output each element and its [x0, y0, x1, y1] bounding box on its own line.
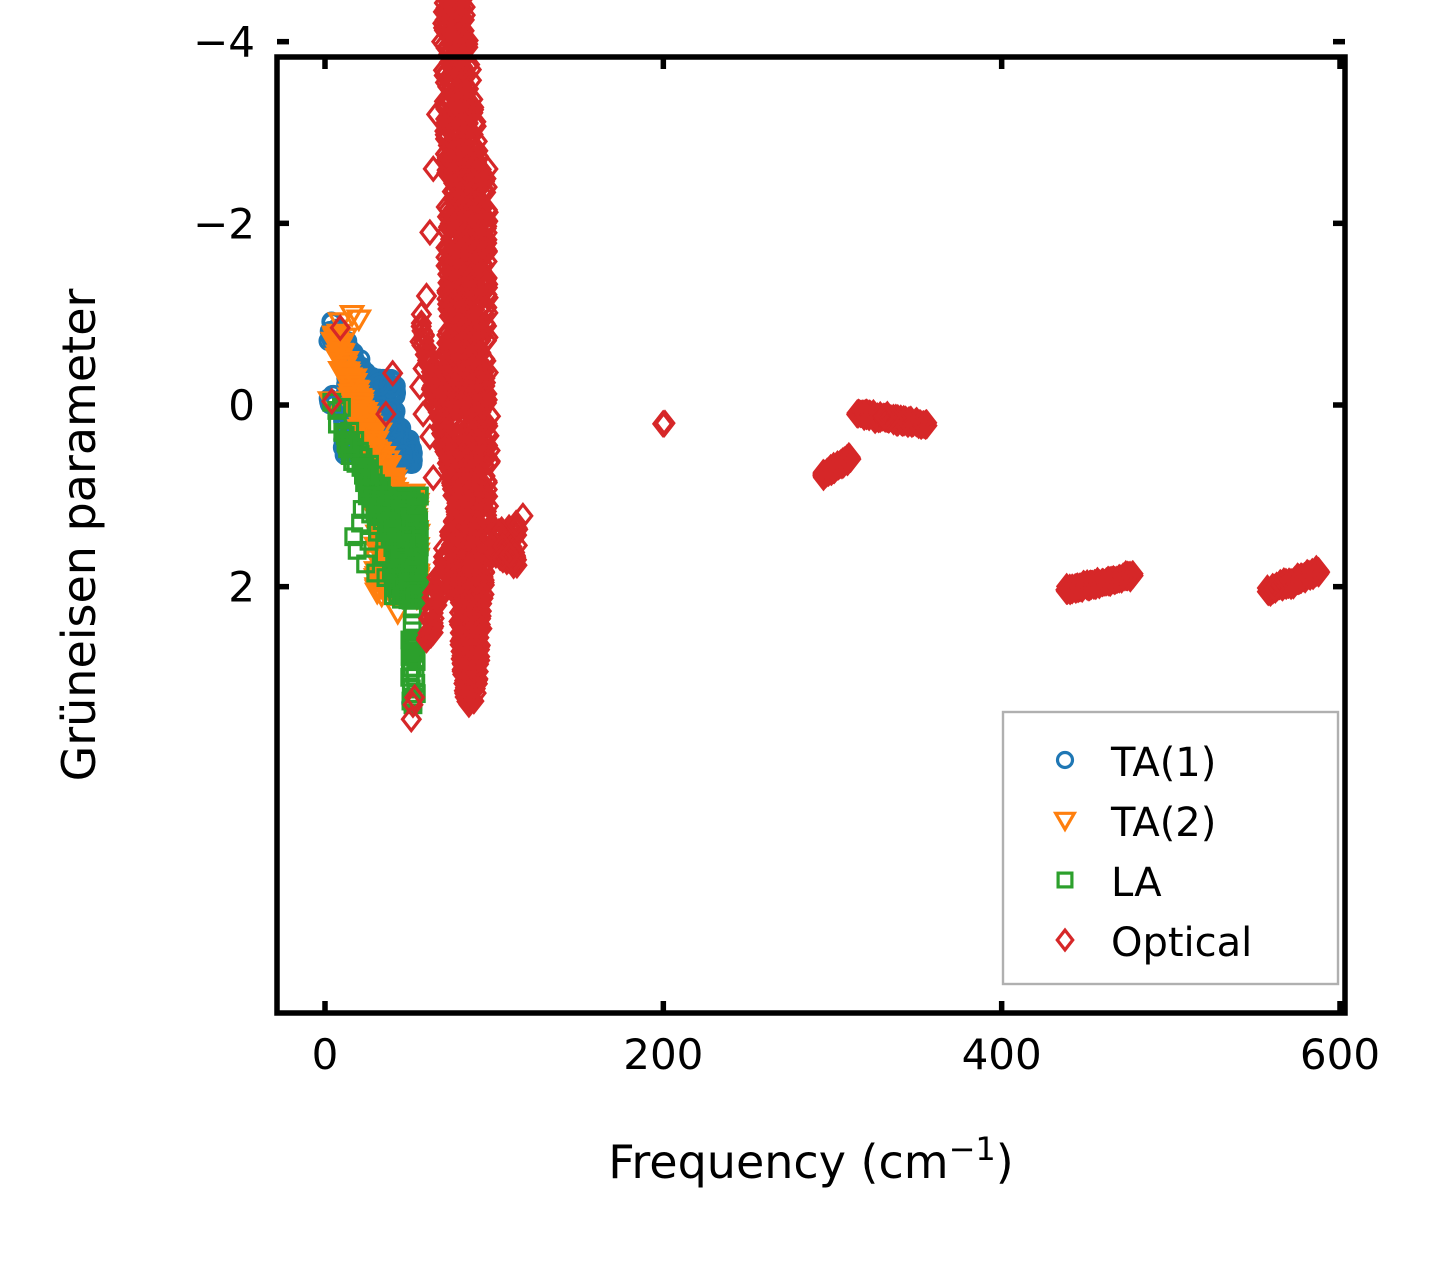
legend-label: TA(1) [1110, 740, 1216, 786]
x-tick-label: 400 [962, 1030, 1042, 1079]
y-axis-label: Grüneisen parameter [52, 288, 106, 781]
y-tick-label: −2 [193, 199, 255, 248]
y-tick-label: 0 [228, 381, 255, 430]
x-tick-label: 0 [312, 1030, 339, 1079]
y-tick-label: 2 [228, 563, 255, 612]
y-tick-label: −4 [193, 18, 255, 67]
legend-label: LA [1111, 860, 1162, 906]
figure-canvas: 020040060020−2−4−6Frequency (cm−1)Grünei… [0, 0, 1455, 1264]
legend[interactable]: TA(1)TA(2)LAOptical [1003, 712, 1338, 984]
x-axis-label: Frequency (cm−1) [608, 1130, 1013, 1189]
scatter-plot: 020040060020−2−4−6Frequency (cm−1)Grünei… [0, 0, 1455, 1264]
x-tick-label: 600 [1300, 1030, 1380, 1079]
data-points-layer [320, 0, 1329, 731]
legend-label: TA(2) [1110, 800, 1216, 846]
x-tick-label: 200 [623, 1030, 703, 1079]
legend-label: Optical [1111, 920, 1252, 966]
